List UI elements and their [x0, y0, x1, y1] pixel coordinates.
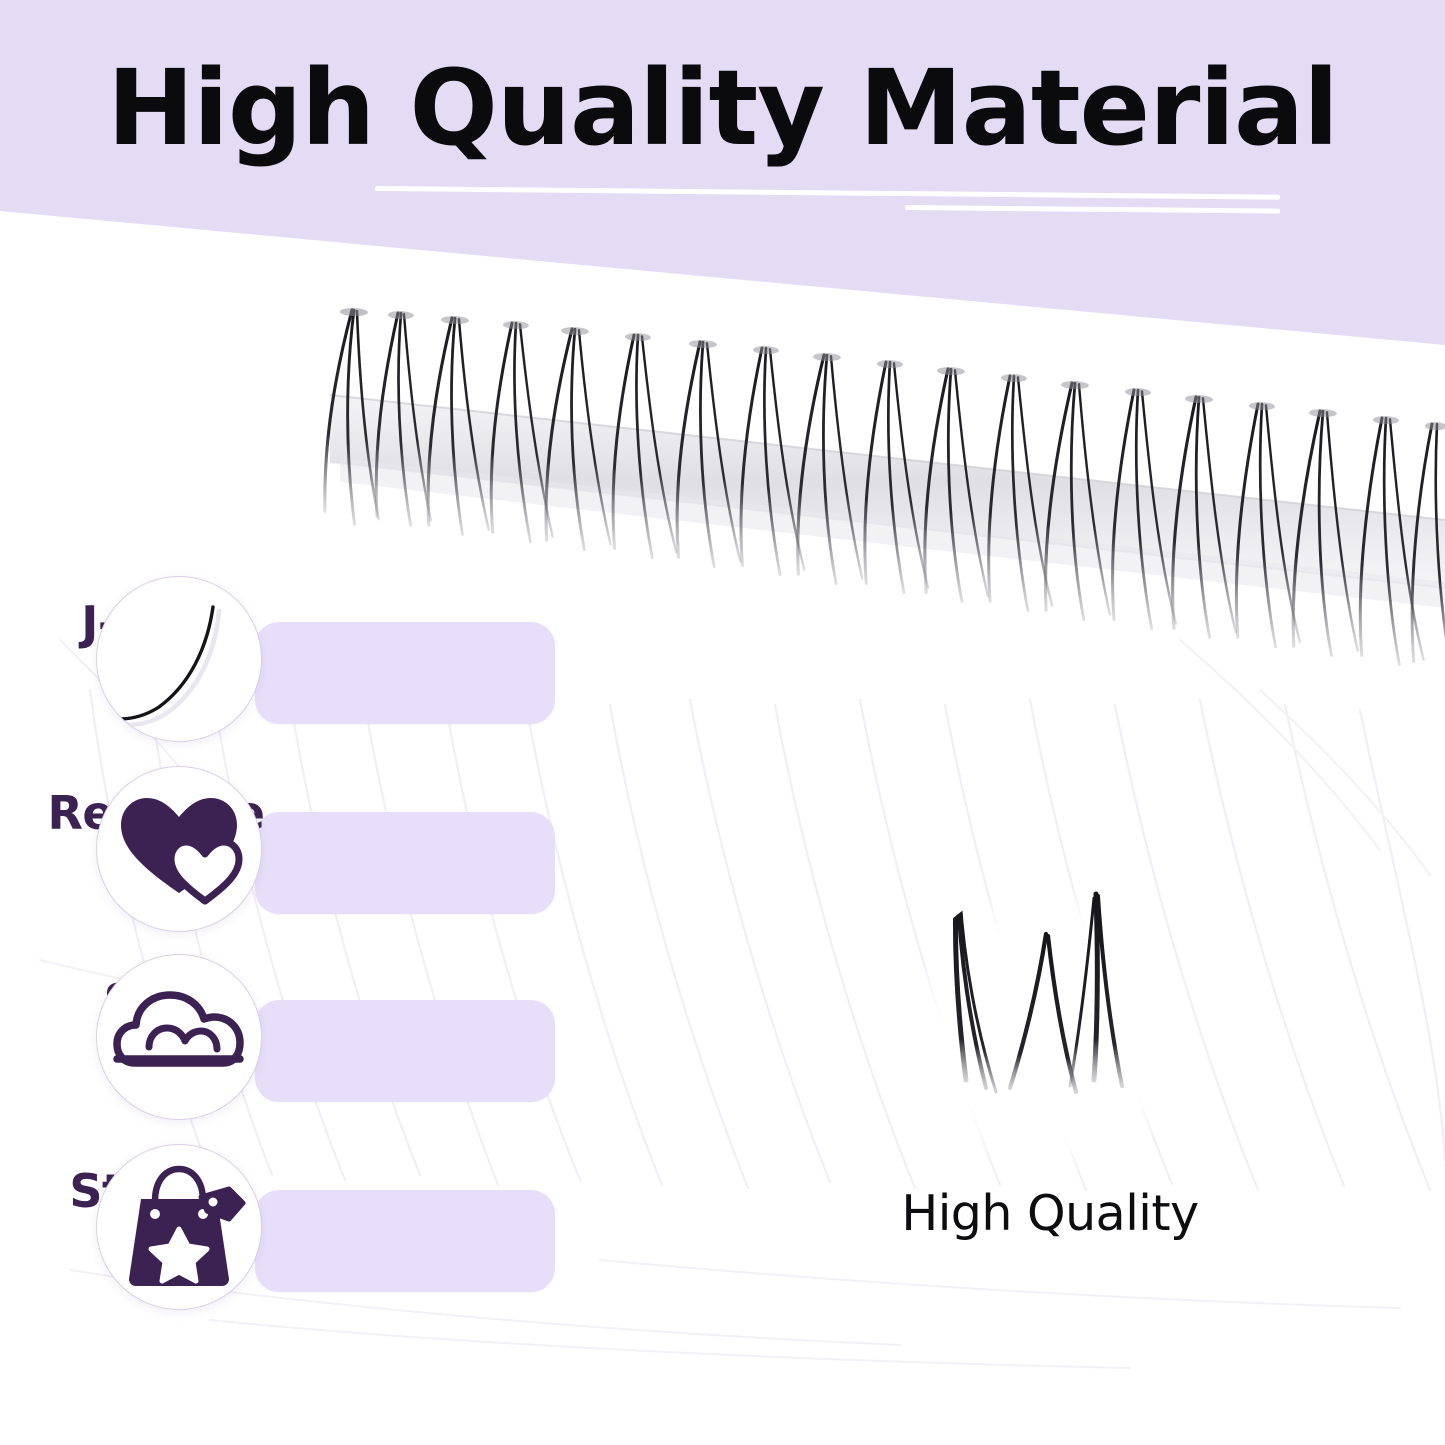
feature-pill [255, 812, 555, 914]
lash-curl-icon [97, 577, 261, 741]
double-heart-icon [97, 767, 261, 931]
cloud-icon [97, 955, 261, 1119]
feature-pill [255, 1190, 555, 1292]
product-feature-graphic: High Quality Material J-curl; Real like [0, 0, 1445, 1445]
feature-icon-circle [96, 576, 262, 742]
inset-caption: High Quality [840, 1185, 1260, 1242]
feature-icon-circle [96, 1144, 262, 1310]
feature-item-real-like[interactable]: Real like [0, 762, 600, 932]
shopping-bag-star-icon [97, 1145, 261, 1309]
feature-item-j-curl[interactable]: J-curl; [0, 572, 600, 742]
title-underline-short [905, 205, 1280, 214]
feature-item-stylish[interactable]: Stylish [0, 1140, 600, 1310]
feature-pill [255, 622, 555, 724]
feature-icon-circle [96, 954, 262, 1120]
feature-item-soft[interactable]: Soft [0, 950, 600, 1120]
feature-icon-circle [96, 766, 262, 932]
feature-list: J-curl; Real like Soft [0, 0, 700, 1445]
magnified-lash-inset [900, 880, 1200, 1180]
feature-pill [255, 1000, 555, 1102]
